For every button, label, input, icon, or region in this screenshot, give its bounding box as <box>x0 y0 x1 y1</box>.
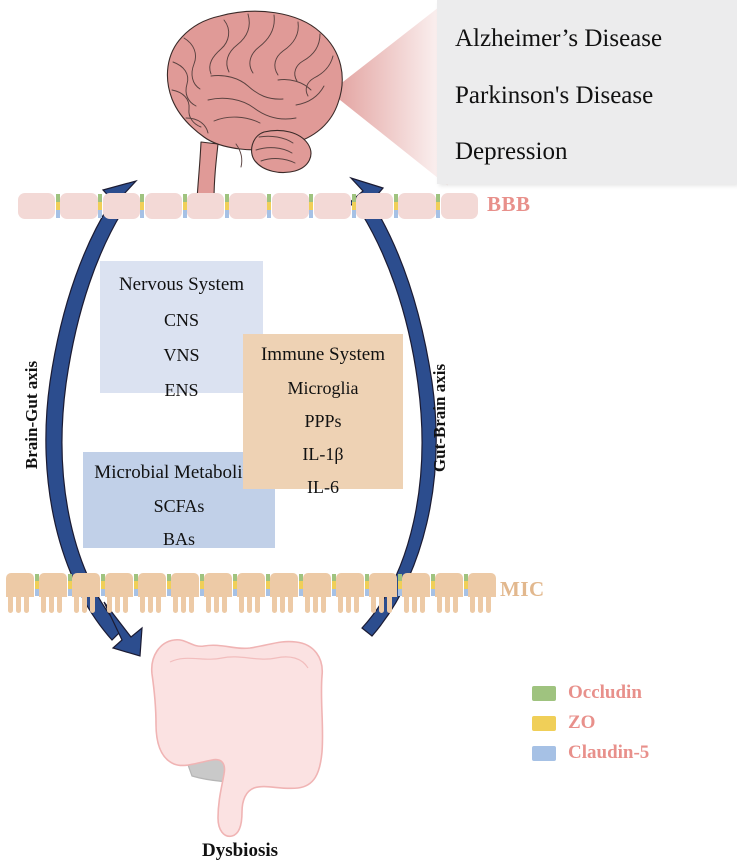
claudin5-band-icon <box>233 589 237 596</box>
occludin-band-icon <box>134 574 138 581</box>
claudin5-band-icon <box>299 589 303 596</box>
zo-band-icon <box>233 581 237 588</box>
mucosal-intestinal-barrier <box>6 573 496 613</box>
zo-band-icon <box>365 581 369 588</box>
claudin5-band-icon <box>56 210 60 218</box>
mic-epithelial-cell <box>270 573 298 597</box>
occludin-band-icon <box>266 574 270 581</box>
mic-microvilli <box>272 597 300 613</box>
mic-epithelial-cell <box>72 573 100 597</box>
mic-epithelial-cell <box>6 573 34 597</box>
bbb-endothelial-cell <box>187 193 224 219</box>
mic-microvilli <box>338 597 366 613</box>
tight-junction-legend: Occludin ZO Claudin-5 <box>532 678 649 768</box>
mic-tight-junction <box>68 574 72 596</box>
nervous-system-item-cns: CNS <box>100 311 263 329</box>
bbb-endothelial-cell <box>229 193 266 219</box>
mic-epithelial-cell <box>369 573 397 597</box>
occludin-band-icon <box>233 574 237 581</box>
mic-microvilli <box>173 597 201 613</box>
claudin5-band-icon <box>394 210 398 218</box>
zo-band-icon <box>436 202 440 210</box>
bbb-tight-junction <box>352 194 356 218</box>
claudin5-band-icon <box>267 210 271 218</box>
zo-band-icon <box>309 202 313 210</box>
claudin5-band-icon <box>365 589 369 596</box>
claudin5-band-icon <box>200 589 204 596</box>
occludin-band-icon <box>332 574 336 581</box>
occludin-band-icon <box>225 194 229 202</box>
claudin5-band-icon <box>183 210 187 218</box>
mic-microvilli <box>305 597 333 613</box>
mic-tight-junction <box>365 574 369 596</box>
zo-band-icon <box>267 202 271 210</box>
claudin5-band-icon <box>266 589 270 596</box>
mic-epithelial-cell <box>171 573 199 597</box>
occludin-band-icon <box>464 574 468 581</box>
occludin-band-icon <box>309 194 313 202</box>
claudin5-band-icon <box>431 589 435 596</box>
mic-tight-junction <box>200 574 204 596</box>
zo-band-icon <box>35 581 39 588</box>
occludin-band-icon <box>56 194 60 202</box>
claudin5-band-icon <box>309 210 313 218</box>
legend-label-claudin5: Claudin-5 <box>568 742 649 764</box>
claudin5-band-icon <box>68 589 72 596</box>
legend-label-occludin: Occludin <box>568 682 642 704</box>
mic-microvilli <box>8 597 36 613</box>
claudin5-band-icon <box>225 210 229 218</box>
mic-label: MIC <box>500 577 545 602</box>
zo-band-icon <box>352 202 356 210</box>
bbb-tight-junction <box>436 194 440 218</box>
mic-epithelial-cell <box>204 573 232 597</box>
immune-system-item-ppps: PPPs <box>243 412 403 430</box>
blood-brain-barrier <box>18 193 478 219</box>
claudin5-band-icon <box>167 589 171 596</box>
zo-band-icon <box>98 202 102 210</box>
occludin-swatch-icon <box>532 686 556 701</box>
occludin-band-icon <box>352 194 356 202</box>
nervous-system-box: Nervous System CNS VNS ENS <box>100 261 263 393</box>
mic-microvilli <box>239 597 267 613</box>
zo-band-icon <box>183 202 187 210</box>
occludin-band-icon <box>398 574 402 581</box>
mic-tight-junction <box>299 574 303 596</box>
zo-swatch-icon <box>532 716 556 731</box>
occludin-band-icon <box>394 194 398 202</box>
zo-band-icon <box>140 202 144 210</box>
mic-microvilli <box>206 597 234 613</box>
zo-band-icon <box>266 581 270 588</box>
mic-epithelial-cell <box>237 573 265 597</box>
mic-tight-junction <box>101 574 105 596</box>
mic-microvilli <box>371 597 399 613</box>
mic-microvilli <box>140 597 168 613</box>
mic-epithelial-cell <box>468 573 496 597</box>
zo-band-icon <box>332 581 336 588</box>
occludin-band-icon <box>299 574 303 581</box>
nervous-system-title: Nervous System <box>100 275 263 294</box>
mic-microvilli <box>107 597 135 613</box>
claudin5-band-icon <box>464 589 468 596</box>
occludin-band-icon <box>267 194 271 202</box>
legend-label-zo: ZO <box>568 712 595 734</box>
occludin-band-icon <box>167 574 171 581</box>
mic-microvilli <box>437 597 465 613</box>
bbb-endothelial-cell <box>398 193 435 219</box>
immune-system-item-il6: IL-6 <box>243 478 403 496</box>
legend-item-claudin5: Claudin-5 <box>532 738 649 768</box>
mic-tight-junction <box>35 574 39 596</box>
mic-tight-junction <box>464 574 468 596</box>
claudin5-band-icon <box>332 589 336 596</box>
mic-tight-junction <box>332 574 336 596</box>
bbb-tight-junction <box>309 194 313 218</box>
claudin5-swatch-icon <box>532 746 556 761</box>
zo-band-icon <box>431 581 435 588</box>
dysbiosis-caption: Dysbiosis <box>0 840 480 862</box>
mic-microvilli <box>404 597 432 613</box>
mic-tight-junction <box>431 574 435 596</box>
zo-band-icon <box>101 581 105 588</box>
bbb-endothelial-cell <box>356 193 393 219</box>
mic-epithelial-cell <box>303 573 331 597</box>
bbb-endothelial-cell <box>18 193 55 219</box>
mic-tight-junction <box>233 574 237 596</box>
bbb-endothelial-cell <box>60 193 97 219</box>
nervous-system-item-ens: ENS <box>100 381 263 399</box>
legend-item-occludin: Occludin <box>532 678 649 708</box>
bbb-tight-junction <box>183 194 187 218</box>
zo-band-icon <box>56 202 60 210</box>
brain-disorders-callout: Alzheimer’s Disease Parkinson's Disease … <box>437 0 737 184</box>
bbb-endothelial-cell <box>272 193 309 219</box>
bbb-label: BBB <box>487 192 531 217</box>
immune-system-item-microglia: Microglia <box>243 379 403 397</box>
bbb-endothelial-cell <box>314 193 351 219</box>
mic-tight-junction <box>167 574 171 596</box>
bbb-endothelial-cell <box>103 193 140 219</box>
occludin-band-icon <box>101 574 105 581</box>
zo-band-icon <box>134 581 138 588</box>
bbb-tight-junction <box>140 194 144 218</box>
diagram-canvas: Alzheimer’s Disease Parkinson's Disease … <box>0 0 737 868</box>
occludin-band-icon <box>35 574 39 581</box>
claudin5-band-icon <box>352 210 356 218</box>
immune-system-item-il1b: IL-1β <box>243 445 403 463</box>
mic-epithelial-cell <box>402 573 430 597</box>
claudin5-band-icon <box>436 210 440 218</box>
mic-epithelial-cell <box>39 573 67 597</box>
bbb-tight-junction <box>394 194 398 218</box>
mic-microvilli <box>74 597 102 613</box>
gut-brain-axis-label: Gut-Brain axis <box>430 363 450 473</box>
claudin5-band-icon <box>134 589 138 596</box>
occludin-band-icon <box>431 574 435 581</box>
microbial-metabolites-item-bas: BAs <box>83 530 275 548</box>
occludin-band-icon <box>200 574 204 581</box>
mic-tight-junction <box>134 574 138 596</box>
zo-band-icon <box>394 202 398 210</box>
bbb-endothelial-cell <box>441 193 478 219</box>
occludin-band-icon <box>436 194 440 202</box>
zo-band-icon <box>200 581 204 588</box>
mic-microvilli <box>41 597 69 613</box>
microbial-metabolites-item-scfas: SCFAs <box>83 497 275 515</box>
immune-system-title: Immune System <box>243 345 403 364</box>
bbb-tight-junction <box>267 194 271 218</box>
callout-line-3: Depression <box>455 139 567 164</box>
bbb-tight-junction <box>225 194 229 218</box>
claudin5-band-icon <box>101 589 105 596</box>
zo-band-icon <box>398 581 402 588</box>
occludin-band-icon <box>183 194 187 202</box>
bbb-endothelial-cell <box>145 193 182 219</box>
mic-epithelial-cell <box>138 573 166 597</box>
zo-band-icon <box>225 202 229 210</box>
mic-epithelial-cell <box>105 573 133 597</box>
mic-tight-junction <box>266 574 270 596</box>
mic-microvilli <box>470 597 498 613</box>
zo-band-icon <box>299 581 303 588</box>
immune-system-box: Immune System Microglia PPPs IL-1β IL-6 <box>243 334 403 489</box>
claudin5-band-icon <box>398 589 402 596</box>
occludin-band-icon <box>98 194 102 202</box>
callout-line-1: Alzheimer’s Disease <box>455 26 662 51</box>
occludin-band-icon <box>68 574 72 581</box>
nervous-system-item-vns: VNS <box>100 346 263 364</box>
callout-line-2: Parkinson's Disease <box>455 83 653 108</box>
mic-epithelial-cell <box>336 573 364 597</box>
brain-gut-axis-label: Brain-Gut axis <box>22 360 42 470</box>
mic-tight-junction <box>398 574 402 596</box>
mic-epithelial-cell <box>435 573 463 597</box>
zo-band-icon <box>464 581 468 588</box>
bbb-tight-junction <box>56 194 60 218</box>
claudin5-band-icon <box>140 210 144 218</box>
claudin5-band-icon <box>35 589 39 596</box>
zo-band-icon <box>68 581 72 588</box>
occludin-band-icon <box>365 574 369 581</box>
claudin5-band-icon <box>98 210 102 218</box>
bbb-tight-junction <box>98 194 102 218</box>
zo-band-icon <box>167 581 171 588</box>
occludin-band-icon <box>140 194 144 202</box>
legend-item-zo: ZO <box>532 708 649 738</box>
